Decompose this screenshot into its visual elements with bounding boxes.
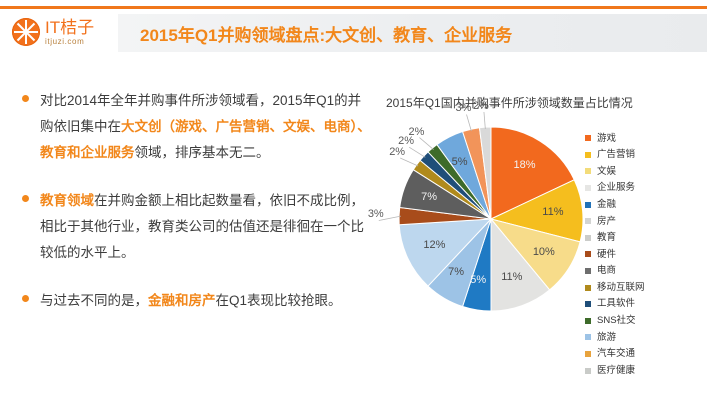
legend-item-12[interactable]: 旅游 [585,329,703,346]
legend-swatch-icon [585,218,591,224]
legend-swatch-icon [585,135,591,141]
bullet-item-1: 对比2014年全年并购事件所涉领域看，2015年Q1的并购依旧集中在大文创（游戏… [18,88,374,166]
pie-chart-svg [398,126,584,312]
legend-swatch-icon [585,318,591,324]
legend-swatch-icon [585,268,591,274]
legend-item-2[interactable]: 文娱 [585,163,703,180]
legend-swatch-icon [585,251,591,257]
pie-label-9: 2% [389,146,405,158]
pie-label-2: 10% [533,246,555,258]
pie-label-8: 7% [421,191,437,203]
pie-label-5: 7% [448,266,464,278]
legend-label: 硬件 [597,250,616,260]
brand-text: IT桔子 itjuzi.com [45,19,94,46]
legend-item-9[interactable]: 移动互联网 [585,279,703,296]
logo-cross-lines [12,18,40,46]
legend-label: 移动互联网 [597,283,645,293]
slide: IT桔子 itjuzi.com 2015年Q1并购领域盘点:大文创、教育、企业服… [0,0,707,415]
legend-item-0[interactable]: 游戏 [585,130,703,147]
legend-label: 电商 [597,266,616,276]
legend-item-6[interactable]: 教育 [585,230,703,247]
legend-swatch-icon [585,168,591,174]
orange-slice-logo-icon [12,18,40,46]
pie-label-11: 2% [408,126,424,138]
legend-label: 房产 [597,217,616,227]
pie-label-12: 5% [452,156,468,168]
plain-text: 与过去不同的是， [40,293,148,308]
bullet-dot-icon [22,95,29,102]
legend-label: 金融 [597,200,616,210]
legend-swatch-icon [585,285,591,291]
legend-swatch-icon [585,235,591,241]
legend-item-1[interactable]: 广告营销 [585,147,703,164]
highlighted-text: 教育领域 [40,193,94,208]
legend-swatch-icon [585,202,591,208]
brand-name: IT桔子 [45,19,94,36]
legend-item-7[interactable]: 硬件 [585,246,703,263]
legend-label: 企业服务 [597,183,635,193]
plain-text: 领域，排序基本无二。 [135,145,270,160]
pie-label-7: 3% [368,208,384,220]
pie-label-4: 5% [470,274,486,286]
pie-label-6: 12% [423,239,445,251]
bullet-item-2: 教育领域在并购金额上相比起数量看，依旧不成比例，相比于其他行业，教育类公司的估值… [18,188,374,266]
plain-text: 在Q1表现比较抢眼。 [216,293,342,308]
bullet-dot-icon [22,295,29,302]
legend-label: 文娱 [597,167,616,177]
pie-label-0: 18% [514,159,536,171]
legend-swatch-icon [585,368,591,374]
legend-label: 汽车交通 [597,349,635,359]
legend-label: 教育 [597,233,616,243]
bullet-dot-icon [22,195,29,202]
bullet-text-3: 与过去不同的是，金融和房产在Q1表现比较抢眼。 [40,288,374,314]
legend-swatch-icon [585,152,591,158]
brand-url: itjuzi.com [45,38,94,46]
legend-label: SNS社交 [597,316,636,326]
bullet-item-3: 与过去不同的是，金融和房产在Q1表现比较抢眼。 [18,288,374,314]
pie-chart [398,126,584,312]
highlighted-text: 金融和房产 [148,293,216,308]
legend-label: 医疗健康 [597,366,635,376]
legend-item-8[interactable]: 电商 [585,263,703,280]
legend-item-4[interactable]: 金融 [585,196,703,213]
legend-swatch-icon [585,301,591,307]
pie-label-3: 11% [501,271,522,283]
top-accent-rule [0,6,707,9]
legend-item-3[interactable]: 企业服务 [585,180,703,197]
legend-label: 游戏 [597,134,616,144]
legend-swatch-icon [585,185,591,191]
legend-label: 旅游 [597,333,616,343]
bullet-list: 对比2014年全年并购事件所涉领域看，2015年Q1的并购依旧集中在大文创（游戏… [18,88,374,336]
legend-swatch-icon [585,334,591,340]
legend-label: 工具软件 [597,299,635,309]
brand-logo: IT桔子 itjuzi.com [12,18,94,46]
legend-item-14[interactable]: 医疗健康 [585,362,703,379]
legend-item-11[interactable]: SNS社交 [585,313,703,330]
pie-label-1: 11% [542,206,563,218]
pie-label-14: 2% [473,100,489,112]
legend-swatch-icon [585,351,591,357]
legend-item-10[interactable]: 工具软件 [585,296,703,313]
legend-label: 广告营销 [597,150,635,160]
page-title: 2015年Q1并购领域盘点:大文创、教育、企业服务 [140,21,700,46]
bottom-edge [0,411,707,415]
bullet-text-2: 教育领域在并购金额上相比起数量看，依旧不成比例，相比于其他行业，教育类公司的估值… [40,188,374,266]
legend-item-13[interactable]: 汽车交通 [585,346,703,363]
chart-legend: 游戏广告营销文娱企业服务金融房产教育硬件电商移动互联网工具软件SNS社交旅游汽车… [585,130,703,379]
legend-item-5[interactable]: 房产 [585,213,703,230]
chart-title: 2015年Q1国内并购事件所涉领域数量占比情况 [386,94,633,111]
pie-label-13: 3% [456,102,472,114]
bullet-text-1: 对比2014年全年并购事件所涉领域看，2015年Q1的并购依旧集中在大文创（游戏… [40,88,374,166]
